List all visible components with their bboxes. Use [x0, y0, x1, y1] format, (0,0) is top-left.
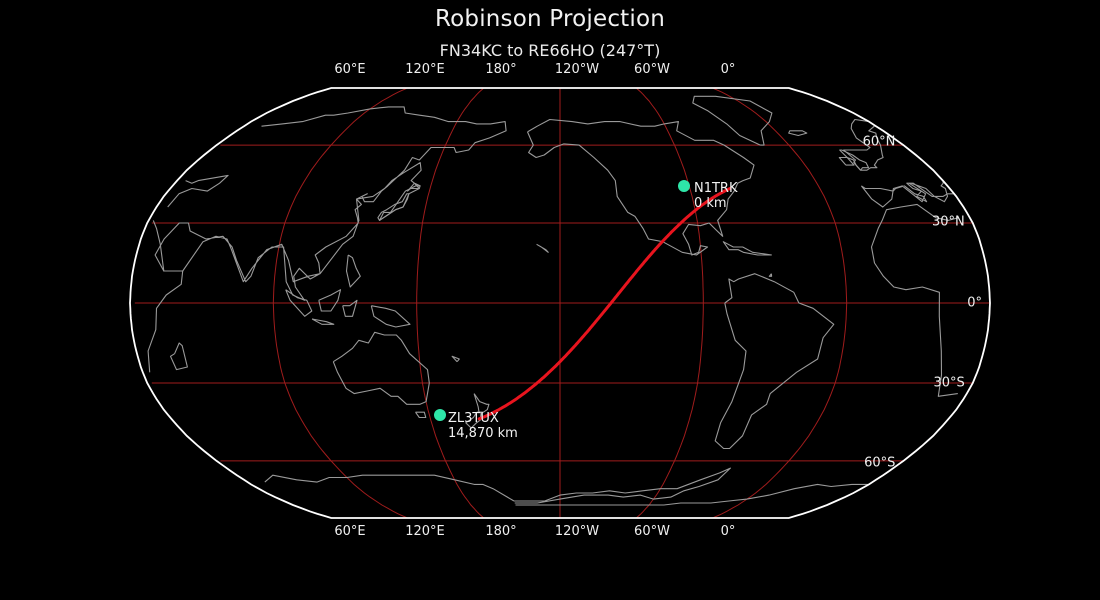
coastline: [537, 244, 549, 252]
coastline: [840, 150, 869, 170]
lat-tick-1: 30°N: [0, 215, 965, 230]
coastline: [452, 356, 459, 361]
lon-tick-bottom-0: 60°E: [334, 524, 365, 539]
coastline: [312, 319, 334, 324]
coastline: [839, 158, 854, 166]
lat-tick-4: 60°S: [0, 456, 895, 471]
station-label-n1trk: N1TRK0 km: [694, 181, 738, 211]
coastline: [769, 274, 771, 277]
coastline: [474, 394, 489, 413]
station-label-zl3tux: ZL3TUX14,870 km: [448, 411, 518, 441]
map-figure: Robinson Projection FN34KC to RE66HO (24…: [0, 0, 1100, 600]
lat-tick-2: 0°: [0, 296, 982, 311]
lon-tick-top-2: 180°: [485, 62, 516, 77]
lon-tick-top-1: 120°E: [405, 62, 445, 77]
coastline: [416, 412, 426, 417]
coastline: [168, 175, 954, 207]
lon-tick-bottom-4: 60°W: [634, 524, 670, 539]
lat-tick-0: 60°N: [0, 135, 895, 150]
coastline: [723, 242, 772, 255]
lon-tick-top-3: 120°W: [555, 62, 599, 77]
lat-tick-3: 30°S: [0, 376, 965, 391]
coastline: [347, 255, 361, 287]
lon-tick-top-5: 0°: [721, 62, 736, 77]
lon-tick-bottom-1: 120°E: [405, 524, 445, 539]
station-callsign: N1TRK: [694, 181, 738, 196]
coastline: [265, 475, 869, 505]
station-marker-n1trk[interactable]: [678, 180, 690, 192]
lon-tick-top-4: 60°W: [634, 62, 670, 77]
station-distance: 14,870 km: [448, 426, 518, 441]
station-callsign: ZL3TUX: [448, 411, 499, 426]
station-distance: 0 km: [694, 196, 738, 211]
station-marker-zl3tux[interactable]: [434, 409, 446, 421]
lon-tick-bottom-3: 120°W: [555, 524, 599, 539]
coastline: [333, 332, 429, 404]
lon-tick-bottom-2: 180°: [485, 524, 516, 539]
lon-tick-top-0: 60°E: [334, 62, 365, 77]
coastline: [171, 343, 188, 370]
coastline: [514, 468, 730, 503]
lon-tick-bottom-5: 0°: [721, 524, 736, 539]
